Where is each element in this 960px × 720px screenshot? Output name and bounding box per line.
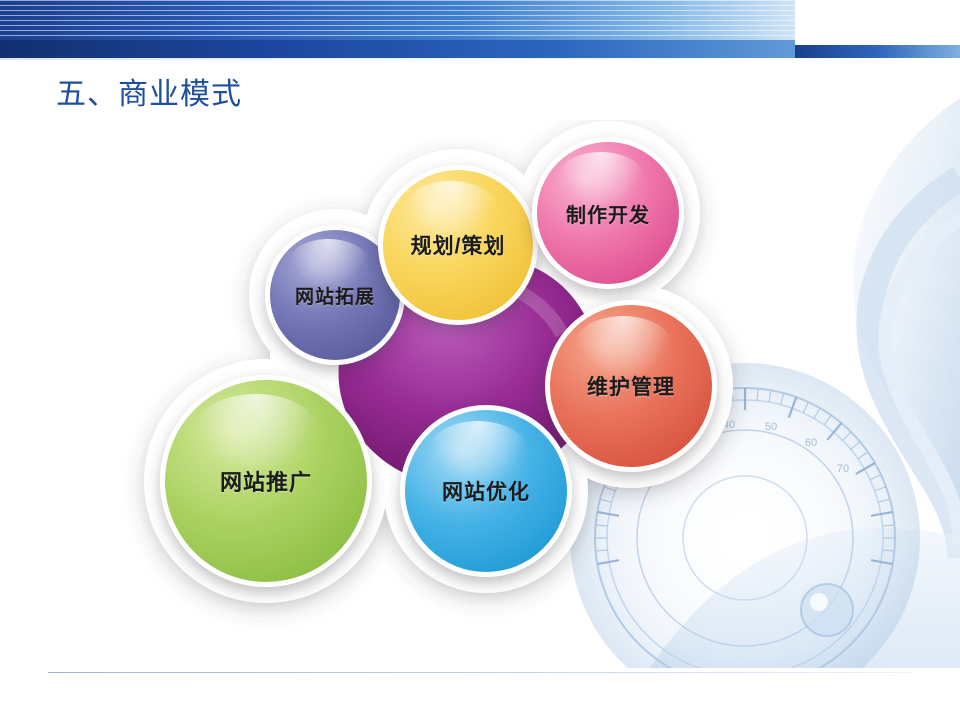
top-band-right-blank	[795, 0, 960, 45]
page-title: 五、商业模式	[56, 76, 242, 114]
bubble-promote-label: 网站推广	[220, 465, 312, 497]
bubble-develop[interactable]: 制作开发	[532, 137, 684, 289]
svg-text:70: 70	[837, 463, 849, 475]
bubble-plan-label: 规划/策划	[411, 230, 506, 260]
bubble-optimize[interactable]: 网站优化	[400, 405, 572, 577]
bubble-develop-label: 制作开发	[566, 199, 650, 228]
slide: 五、商业模式	[0, 0, 960, 720]
business-model-bubble-diagram: 网站拓展 规划/策划 制作开发 维护管理 网站推广 网站优化	[120, 120, 760, 640]
top-band-dark-stripe	[0, 40, 795, 58]
bubble-optimize-label: 网站优化	[442, 476, 530, 506]
footer-divider	[48, 672, 912, 673]
band-hairline	[0, 58, 960, 60]
bubble-maintain-label: 维护管理	[587, 371, 675, 401]
bubble-maintain[interactable]: 维护管理	[545, 300, 717, 472]
bubble-promote[interactable]: 网站推广	[160, 375, 372, 587]
bubble-plan[interactable]: 规划/策划	[378, 165, 538, 325]
svg-text:50: 50	[765, 421, 777, 433]
svg-text:60: 60	[805, 437, 817, 449]
bubble-expand-label: 网站拓展	[295, 282, 375, 309]
top-band-right-edge	[795, 45, 960, 58]
